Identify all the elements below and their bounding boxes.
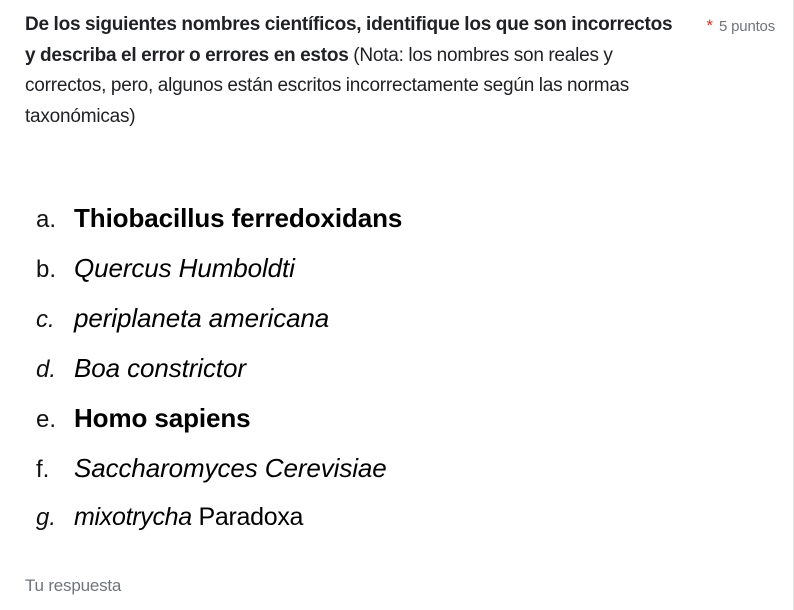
list-item-marker: d. (36, 356, 74, 384)
list-item-text: mixotrycha Paradoxa (74, 503, 303, 532)
list-item-marker: e. (36, 406, 74, 434)
list-item: d. Boa constrictor (36, 353, 773, 403)
question-header: De los siguientes nombres científicos, i… (25, 10, 775, 132)
list-item-text: Quercus Humboldti (74, 253, 295, 284)
scientific-name-list: a. Thiobacillus ferredoxidans b. Quercus… (36, 203, 773, 553)
list-item-text: Saccharomyces Cerevisiae (74, 453, 387, 484)
list-item-marker: a. (36, 206, 74, 234)
list-item: a. Thiobacillus ferredoxidans (36, 203, 773, 253)
list-item-text: periplaneta americana (74, 303, 329, 334)
list-item: c. periplaneta americana (36, 303, 773, 353)
list-item: e. Homo sapiens (36, 403, 773, 453)
list-item-text-species: Paradoxa (192, 503, 303, 531)
list-item-text-genus: mixotrycha (74, 503, 192, 531)
list-item-marker: c. (36, 306, 74, 334)
list-item-text: Homo sapiens (74, 403, 251, 434)
list-item-marker: b. (36, 256, 74, 284)
list-item-marker: g. (36, 504, 74, 532)
list-item-text: Boa constrictor (74, 353, 246, 384)
list-item-marker: f. (36, 456, 74, 484)
list-item: b. Quercus Humboldti (36, 253, 773, 303)
question-title: De los siguientes nombres científicos, i… (25, 10, 685, 132)
points-indicator: * 5 puntos (706, 17, 775, 35)
answer-input-placeholder[interactable]: Tu respuesta (25, 576, 765, 596)
list-item: g. mixotrycha Paradoxa (36, 503, 773, 553)
question-card: De los siguientes nombres científicos, i… (0, 0, 794, 610)
list-item-text: Thiobacillus ferredoxidans (74, 203, 402, 234)
answer-area[interactable]: Tu respuesta (25, 576, 765, 596)
points-label: 5 puntos (719, 18, 775, 35)
required-asterisk-icon: * (706, 17, 713, 34)
list-item: f. Saccharomyces Cerevisiae (36, 453, 773, 503)
